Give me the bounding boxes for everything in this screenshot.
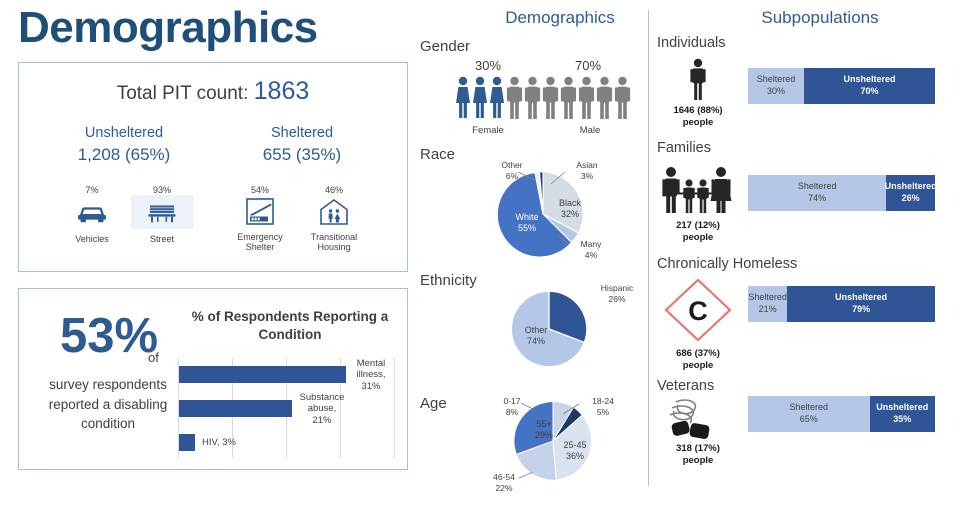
segment-sheltered-individuals: Sheltered 30% <box>748 68 804 104</box>
gender-male-label: Male <box>560 125 620 136</box>
race-label-black: Black32% <box>550 198 590 221</box>
section-label-gender: Gender <box>420 38 470 55</box>
stacked-bar-individuals: Sheltered 30% Unsheltered 70% <box>748 68 935 104</box>
male-figure-icon <box>542 76 559 120</box>
female-figure-icon <box>489 76 505 120</box>
pit-item-street: 93% Street <box>131 185 193 244</box>
bar-label-hiv: HIV, 3% <box>202 437 236 448</box>
male-figure-icon <box>506 76 523 120</box>
age-label-25-45: 25-4536% <box>554 440 596 463</box>
dog-tags-icon <box>660 396 736 446</box>
age-label-18-24: 18-245% <box>581 396 625 417</box>
pit-item-emergency-shelter: 54% Emergency Shelter <box>227 185 293 253</box>
male-figure-icon <box>596 76 613 120</box>
age-label-46-54: 46-5422% <box>483 472 525 493</box>
svg-text:C: C <box>688 296 708 326</box>
disabling-condition-subtext: survey respondents reported a disabling … <box>24 375 192 434</box>
race-label-many: Many4% <box>570 239 612 260</box>
subpopulation-count-individuals: 1646 (88%) people <box>658 105 738 129</box>
race-label-white: White55% <box>507 212 547 235</box>
subpopulation-count-families: 217 (12%) people <box>658 220 738 244</box>
pit-unsheltered-head: Unsheltered <box>39 125 209 141</box>
transitional-housing-pct: 46% <box>301 185 367 195</box>
pit-sheltered-value: 655 (35%) <box>217 145 387 165</box>
emergency-shelter-label: Emergency Shelter <box>227 232 293 253</box>
segment-sheltered-families: Sheltered 74% <box>748 175 886 211</box>
stacked-bar-veterans: Sheltered 65% Unsheltered 35% <box>748 396 935 432</box>
segment-unsheltered-veterans: Unsheltered 35% <box>870 396 935 432</box>
section-label-ethnicity: Ethnicity <box>420 272 477 289</box>
conditions-bar-chart: Mentalillness,31% Substanceabuse,21% HIV… <box>178 358 396 458</box>
gender-male-pct: 70% <box>558 58 618 73</box>
bar-label-mental-illness: Mentalillness,31% <box>350 358 392 392</box>
race-pie-labels: Other6% Asian3% Black32% White55% Many4% <box>415 160 675 270</box>
disabling-condition-of: of <box>148 350 159 365</box>
ethnicity-label-other: Other74% <box>515 325 557 348</box>
bar-substance-abuse <box>179 400 292 417</box>
segment-unsheltered-families: Unsheltered 26% <box>886 175 935 211</box>
bar-hiv <box>179 434 195 451</box>
pit-count-title: Total PIT count: 1863 <box>19 77 407 106</box>
gender-female-label: Female <box>458 125 518 136</box>
pit-unsheltered-value: 1,208 (65%) <box>39 145 209 165</box>
pit-item-vehicles: 7% Vehicles <box>61 185 123 244</box>
segment-unsheltered-individuals: Unsheltered 70% <box>804 68 935 104</box>
male-figure-icon <box>578 76 595 120</box>
emergency-shelter-icon <box>227 195 293 229</box>
subpopulation-head-families: Families <box>657 140 711 156</box>
segment-sheltered-veterans: Sheltered 65% <box>748 396 870 432</box>
street-label: Street <box>131 234 193 244</box>
bar-label-substance-abuse: Substanceabuse,21% <box>294 392 350 426</box>
male-figure-icon <box>614 76 631 120</box>
stacked-bar-chronically-homeless: Sheltered 21% Unsheltered 79% <box>748 286 935 322</box>
segment-unsheltered-chronically-homeless: Unsheltered 79% <box>787 286 935 322</box>
single-person-icon <box>672 56 724 104</box>
subpopulation-head-individuals: Individuals <box>657 35 726 51</box>
subpopulation-count-veterans: 318 (17%) people <box>658 443 738 467</box>
female-figure-icon <box>455 76 471 120</box>
male-figure-icon <box>524 76 541 120</box>
race-label-other: Other6% <box>492 160 532 181</box>
vehicles-pct: 7% <box>61 185 123 195</box>
pit-sheltered-head: Sheltered <box>217 125 387 141</box>
pit-count-panel: Total PIT count: 1863 Unsheltered 1,208 … <box>18 62 408 272</box>
race-label-asian: Asian3% <box>567 160 607 181</box>
transitional-housing-label: Transitional Housing <box>301 232 367 253</box>
ethnicity-label-hispanic: Hispanic26% <box>592 283 642 304</box>
age-pie-labels: 0-178% 18-245% 25-4536% 46-5422% 55+29% <box>415 392 675 500</box>
bar-mental-illness <box>179 366 346 383</box>
segment-sheltered-chronically-homeless: Sheltered 21% <box>748 286 787 322</box>
infographic-root: Demographics Total PIT count: 1863 Unshe… <box>0 0 970 516</box>
age-label-0-17: 0-178% <box>493 396 531 417</box>
transitional-housing-icon <box>301 195 367 229</box>
right-column-title: Subpopulations <box>700 8 940 28</box>
middle-column-title: Demographics <box>470 8 650 28</box>
pit-column-sheltered: Sheltered 655 (35%) <box>217 125 387 165</box>
page-title: Demographics <box>18 6 318 50</box>
street-pct: 93% <box>131 185 193 195</box>
subpopulation-count-chronically-homeless: 686 (37%) people <box>658 348 738 372</box>
gender-pictogram <box>455 76 631 120</box>
emergency-shelter-pct: 54% <box>227 185 293 195</box>
bench-icon <box>131 195 193 229</box>
male-figure-icon <box>560 76 577 120</box>
disabling-condition-pct: 53% <box>34 312 184 361</box>
chronic-diamond-c-icon: C <box>660 276 736 344</box>
car-icon <box>61 195 123 229</box>
pit-count-total: 1863 <box>254 77 310 105</box>
conditions-chart-title: % of Respondents Reporting a Condition <box>190 308 390 344</box>
female-figure-icon <box>472 76 488 120</box>
pit-column-unsheltered: Unsheltered 1,208 (65%) <box>39 125 209 165</box>
gender-female-pct: 30% <box>458 58 518 73</box>
age-label-55plus: 55+29% <box>525 419 563 442</box>
family-icon <box>658 165 736 217</box>
vehicles-label: Vehicles <box>61 234 123 244</box>
subpopulation-head-chronically-homeless: Chronically Homeless <box>657 256 797 272</box>
stacked-bar-families: Sheltered 74% Unsheltered 26% <box>748 175 935 211</box>
pit-item-transitional-housing: 46% Transitional Housing <box>301 185 367 253</box>
pit-count-label: Total PIT count: <box>117 83 249 104</box>
subpopulation-head-veterans: Veterans <box>657 378 714 394</box>
